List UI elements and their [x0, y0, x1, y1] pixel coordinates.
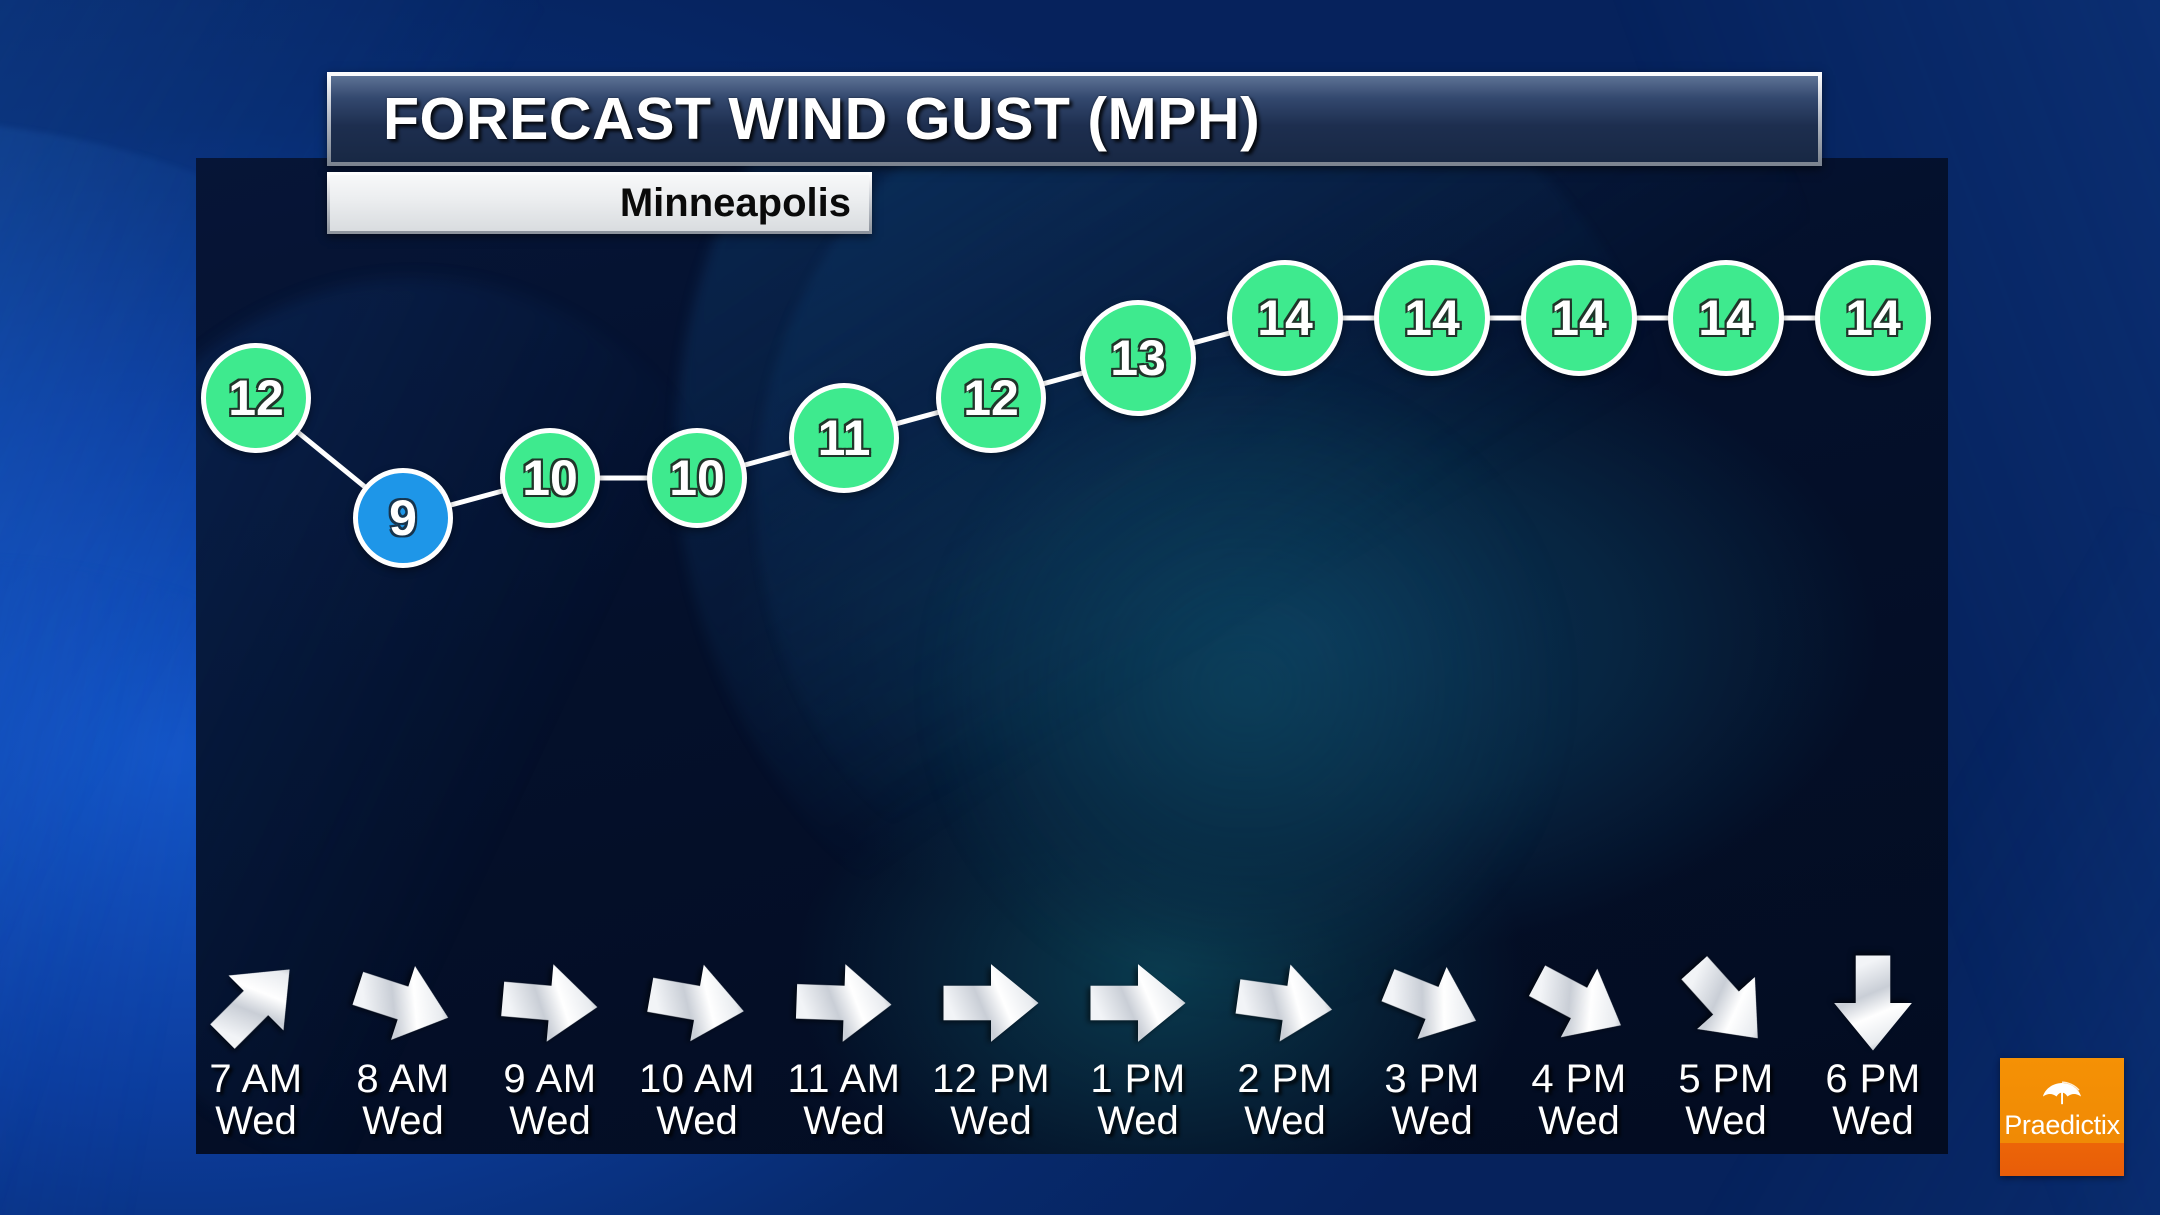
chart-panel: 12910101112131414141414 7 AMWed8 AMWed9 …: [196, 158, 1948, 1154]
time-label-3-pm: 3 PMWed: [1347, 1058, 1517, 1144]
time-label-6-pm: 6 PMWed: [1788, 1058, 1948, 1144]
data-point-value: 14: [1257, 293, 1313, 343]
time-label-hour: 2 PM: [1200, 1058, 1370, 1100]
data-point-10-am: 10: [647, 428, 747, 528]
wind-arrow-ne-icon: [201, 948, 311, 1058]
wind-arrow-e-icon: [936, 948, 1046, 1058]
wind-arrow-ese-icon: [348, 948, 458, 1058]
time-label-day: Wed: [1347, 1100, 1517, 1143]
time-label-10-am: 10 AMWed: [612, 1058, 782, 1144]
data-point-12-pm: 12: [936, 343, 1046, 453]
data-point-4-pm: 14: [1521, 260, 1637, 376]
data-point-7-am: 12: [201, 343, 311, 453]
data-point-2-pm: 14: [1227, 260, 1343, 376]
wind-arrow-e-icon: [789, 948, 899, 1058]
time-label-1-pm: 1 PMWed: [1053, 1058, 1223, 1144]
time-label-hour: 6 PM: [1788, 1058, 1948, 1100]
time-label-hour: 11 AM: [759, 1058, 929, 1100]
wind-arrow-e-icon: [1083, 948, 1193, 1058]
data-point-value: 14: [1845, 293, 1901, 343]
time-label-hour: 4 PM: [1494, 1058, 1664, 1100]
data-point-value: 9: [389, 493, 417, 543]
time-label-hour: 3 PM: [1347, 1058, 1517, 1100]
data-point-value: 11: [818, 413, 871, 463]
wind-arrow-e-icon: [495, 948, 605, 1058]
time-label-11-am: 11 AMWed: [759, 1058, 929, 1144]
data-point-8-am: 9: [353, 468, 453, 568]
location-bar: Minneapolis: [327, 172, 872, 234]
time-label-hour: 5 PM: [1641, 1058, 1811, 1100]
time-label-hour: 8 AM: [318, 1058, 488, 1100]
time-label-hour: 1 PM: [1053, 1058, 1223, 1100]
data-point-value: 10: [522, 453, 578, 503]
time-label-12-pm: 12 PMWed: [906, 1058, 1076, 1144]
time-label-hour: 12 PM: [906, 1058, 1076, 1100]
time-label-hour: 10 AM: [612, 1058, 782, 1100]
wind-arrow-ese-icon: [1377, 948, 1487, 1058]
praedictix-logo: Praedictix: [2000, 1058, 2124, 1176]
data-point-6-pm: 14: [1815, 260, 1931, 376]
time-label-day: Wed: [1200, 1100, 1370, 1143]
time-label-9-am: 9 AMWed: [465, 1058, 635, 1144]
time-label-day: Wed: [612, 1100, 782, 1143]
time-label-8-am: 8 AMWed: [318, 1058, 488, 1144]
wind-arrow-e-icon: [1230, 948, 1340, 1058]
data-point-value: 14: [1404, 293, 1460, 343]
data-point-value: 10: [669, 453, 725, 503]
umbrella-icon: [2039, 1080, 2085, 1108]
data-point-11-am: 11: [789, 383, 899, 493]
time-label-day: Wed: [465, 1100, 635, 1143]
time-label-day: Wed: [318, 1100, 488, 1143]
time-label-day: Wed: [1641, 1100, 1811, 1143]
time-label-5-pm: 5 PMWed: [1641, 1058, 1811, 1144]
time-label-4-pm: 4 PMWed: [1494, 1058, 1664, 1144]
time-label-day: Wed: [906, 1100, 1076, 1143]
time-label-2-pm: 2 PMWed: [1200, 1058, 1370, 1144]
wind-arrow-ese-icon: [1524, 948, 1634, 1058]
time-label-day: Wed: [1788, 1100, 1948, 1143]
title-bar: FORECAST WIND GUST (MPH): [327, 72, 1822, 166]
data-point-value: 12: [963, 373, 1019, 423]
data-point-1-pm: 13: [1080, 300, 1196, 416]
data-point-value: 14: [1698, 293, 1754, 343]
data-point-9-am: 10: [500, 428, 600, 528]
time-label-day: Wed: [1494, 1100, 1664, 1143]
wind-arrow-se-icon: [1671, 948, 1781, 1058]
weather-graphic: 12910101112131414141414 7 AMWed8 AMWed9 …: [0, 0, 2160, 1215]
data-point-value: 14: [1551, 293, 1607, 343]
location-name: Minneapolis: [620, 181, 851, 226]
data-point-value: 13: [1110, 333, 1166, 383]
forecast-line-chart: 12910101112131414141414 7 AMWed8 AMWed9 …: [196, 158, 1948, 1154]
page-title: FORECAST WIND GUST (MPH): [383, 85, 1260, 153]
time-label-day: Wed: [759, 1100, 929, 1143]
time-label-day: Wed: [1053, 1100, 1223, 1143]
wind-arrow-e-icon: [642, 948, 752, 1058]
data-point-5-pm: 14: [1668, 260, 1784, 376]
data-point-value: 12: [228, 373, 284, 423]
time-label-hour: 9 AM: [465, 1058, 635, 1100]
data-point-3-pm: 14: [1374, 260, 1490, 376]
wind-arrow-s-icon: [1818, 948, 1928, 1058]
logo-wordmark: Praedictix: [2000, 1110, 2124, 1141]
